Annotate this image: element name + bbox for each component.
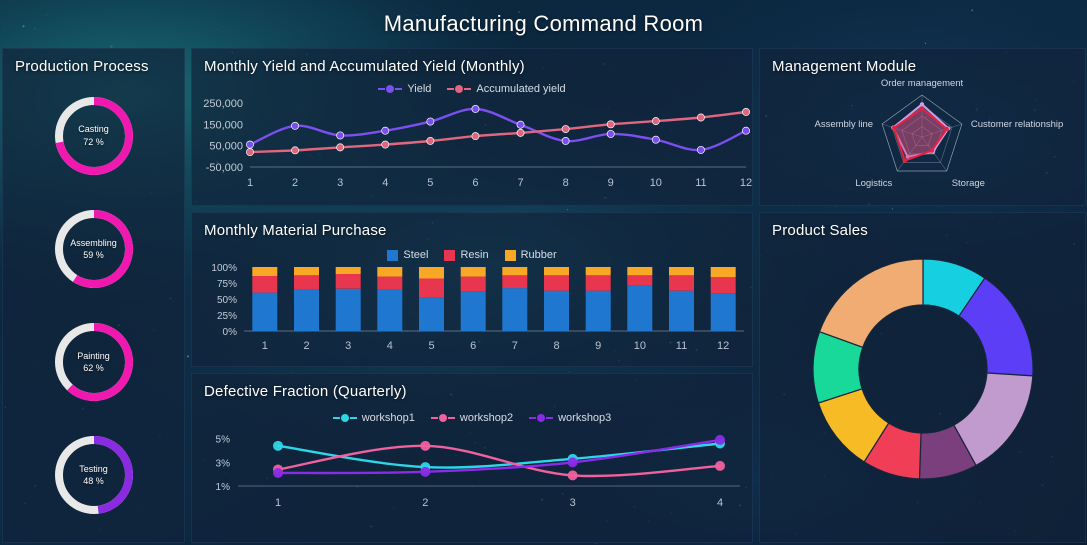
- defective-fraction-legend: workshop1workshop2workshop3: [192, 412, 752, 424]
- radar-axis-label: Assembly line: [814, 119, 873, 130]
- defective-fraction-chart: 1%3%5%1234: [192, 424, 752, 516]
- svg-text:10: 10: [634, 340, 646, 352]
- svg-text:150,000: 150,000: [203, 119, 243, 131]
- svg-text:4: 4: [717, 497, 723, 509]
- legend-label: Resin: [460, 249, 488, 261]
- gauge-testing: Testing48 %: [51, 432, 137, 518]
- svg-text:10: 10: [650, 177, 662, 189]
- legend-label: Rubber: [521, 249, 557, 261]
- gauge-value: 48 %: [83, 475, 104, 487]
- svg-text:9: 9: [595, 340, 601, 352]
- svg-text:250,000: 250,000: [203, 98, 243, 110]
- legend-marker-icon: [378, 85, 402, 93]
- svg-text:9: 9: [608, 177, 614, 189]
- svg-text:5: 5: [428, 340, 434, 352]
- legend-item-accumulated-yield[interactable]: Accumulated yield: [447, 83, 565, 95]
- legend-label: workshop2: [460, 412, 513, 424]
- svg-text:2: 2: [422, 497, 428, 509]
- svg-text:50,000: 50,000: [209, 141, 243, 153]
- svg-text:8: 8: [553, 340, 559, 352]
- legend-item-workshop2[interactable]: workshop2: [431, 412, 513, 424]
- legend-swatch-icon: [505, 250, 516, 261]
- gauge-painting: Painting62 %: [51, 319, 137, 405]
- defective-fraction-panel: Defective Fraction (Quarterly) workshop1…: [191, 373, 753, 543]
- legend-marker-icon: [333, 414, 357, 422]
- monthly-yield-title: Monthly Yield and Accumulated Yield (Mon…: [192, 49, 752, 75]
- gauge-assembling: Assembling59 %: [51, 206, 137, 292]
- gauge-label: Assembling: [70, 237, 117, 249]
- legend-item-resin[interactable]: Resin: [444, 249, 488, 261]
- svg-text:6: 6: [472, 177, 478, 189]
- dashboard-header: Manufacturing Command Room: [0, 0, 1087, 48]
- management-module-panel: Management Module Order managementCustom…: [759, 48, 1086, 206]
- radar-axis-label: Order management: [881, 78, 964, 89]
- svg-text:1: 1: [262, 340, 268, 352]
- svg-text:8: 8: [563, 177, 569, 189]
- svg-text:4: 4: [387, 340, 393, 352]
- product-sales-panel: Product Sales: [759, 212, 1086, 543]
- svg-text:1: 1: [247, 177, 253, 189]
- legend-marker-icon: [529, 414, 553, 422]
- monthly-yield-chart: -50,00050,000150,000250,0001234567891011…: [192, 95, 752, 195]
- legend-item-workshop1[interactable]: workshop1: [333, 412, 415, 424]
- legend-label: Accumulated yield: [476, 83, 565, 95]
- svg-text:3: 3: [570, 497, 576, 509]
- legend-marker-icon: [431, 414, 455, 422]
- legend-swatch-icon: [444, 250, 455, 261]
- svg-text:-50,000: -50,000: [206, 162, 243, 174]
- product-sales-title: Product Sales: [760, 213, 1085, 239]
- material-purchase-legend: SteelResinRubber: [192, 249, 752, 261]
- svg-text:5%: 5%: [216, 435, 231, 446]
- svg-text:2: 2: [303, 340, 309, 352]
- gauge-value: 59 %: [83, 249, 104, 261]
- svg-text:5: 5: [427, 177, 433, 189]
- material-purchase-panel: Monthly Material Purchase SteelResinRubb…: [191, 212, 753, 367]
- svg-text:6: 6: [470, 340, 476, 352]
- svg-text:50%: 50%: [217, 295, 237, 306]
- svg-text:2: 2: [292, 177, 298, 189]
- radar-axis-label: Storage: [952, 178, 985, 189]
- legend-label: workshop1: [362, 412, 415, 424]
- monthly-yield-panel: Monthly Yield and Accumulated Yield (Mon…: [191, 48, 753, 206]
- legend-item-workshop3[interactable]: workshop3: [529, 412, 611, 424]
- svg-text:1%: 1%: [216, 482, 231, 493]
- legend-marker-icon: [447, 85, 471, 93]
- legend-label: workshop3: [558, 412, 611, 424]
- gauge-label: Painting: [77, 350, 110, 362]
- svg-text:11: 11: [695, 177, 706, 189]
- gauge-label: Testing: [79, 463, 108, 475]
- svg-text:7: 7: [517, 177, 523, 189]
- svg-text:12: 12: [717, 340, 729, 352]
- page-title: Manufacturing Command Room: [384, 11, 704, 37]
- svg-text:100%: 100%: [211, 263, 237, 274]
- legend-label: Yield: [407, 83, 431, 95]
- legend-label: Steel: [403, 249, 428, 261]
- management-module-radar-chart: Order managementCustomer relationshipSto…: [760, 75, 1085, 203]
- radar-axis-label: Customer relationship: [971, 119, 1063, 130]
- donut-segment[interactable]: [820, 259, 924, 347]
- gauge-value: 62 %: [83, 362, 104, 374]
- gauge-label: Casting: [78, 123, 109, 135]
- product-sales-donut-chart: [760, 239, 1085, 509]
- svg-text:25%: 25%: [217, 311, 237, 322]
- svg-text:12: 12: [740, 177, 752, 189]
- gauge-value: 72 %: [83, 136, 104, 148]
- monthly-yield-legend: YieldAccumulated yield: [192, 83, 752, 95]
- svg-text:7: 7: [512, 340, 518, 352]
- legend-swatch-icon: [387, 250, 398, 261]
- svg-text:3: 3: [337, 177, 343, 189]
- legend-item-rubber[interactable]: Rubber: [505, 249, 557, 261]
- svg-text:0%: 0%: [223, 327, 238, 338]
- svg-text:3: 3: [345, 340, 351, 352]
- gauge-casting: Casting72 %: [51, 93, 137, 179]
- legend-item-yield[interactable]: Yield: [378, 83, 431, 95]
- production-process-title: Production Process: [3, 49, 184, 75]
- svg-text:3%: 3%: [216, 458, 231, 469]
- material-purchase-chart: 0%25%50%75%100%123456789101112: [192, 261, 752, 356]
- defective-fraction-title: Defective Fraction (Quarterly): [192, 374, 752, 400]
- management-module-title: Management Module: [760, 49, 1085, 75]
- svg-text:1: 1: [275, 497, 281, 509]
- svg-text:11: 11: [676, 340, 687, 352]
- radar-axis-label: Logistics: [855, 178, 892, 189]
- production-process-panel: Production Process Casting72 %Assembling…: [2, 48, 185, 543]
- legend-item-steel[interactable]: Steel: [387, 249, 428, 261]
- svg-text:75%: 75%: [217, 279, 237, 290]
- material-purchase-title: Monthly Material Purchase: [192, 213, 752, 239]
- gauge-list: Casting72 %Assembling59 %Painting62 %Tes…: [3, 75, 184, 542]
- svg-text:4: 4: [382, 177, 388, 189]
